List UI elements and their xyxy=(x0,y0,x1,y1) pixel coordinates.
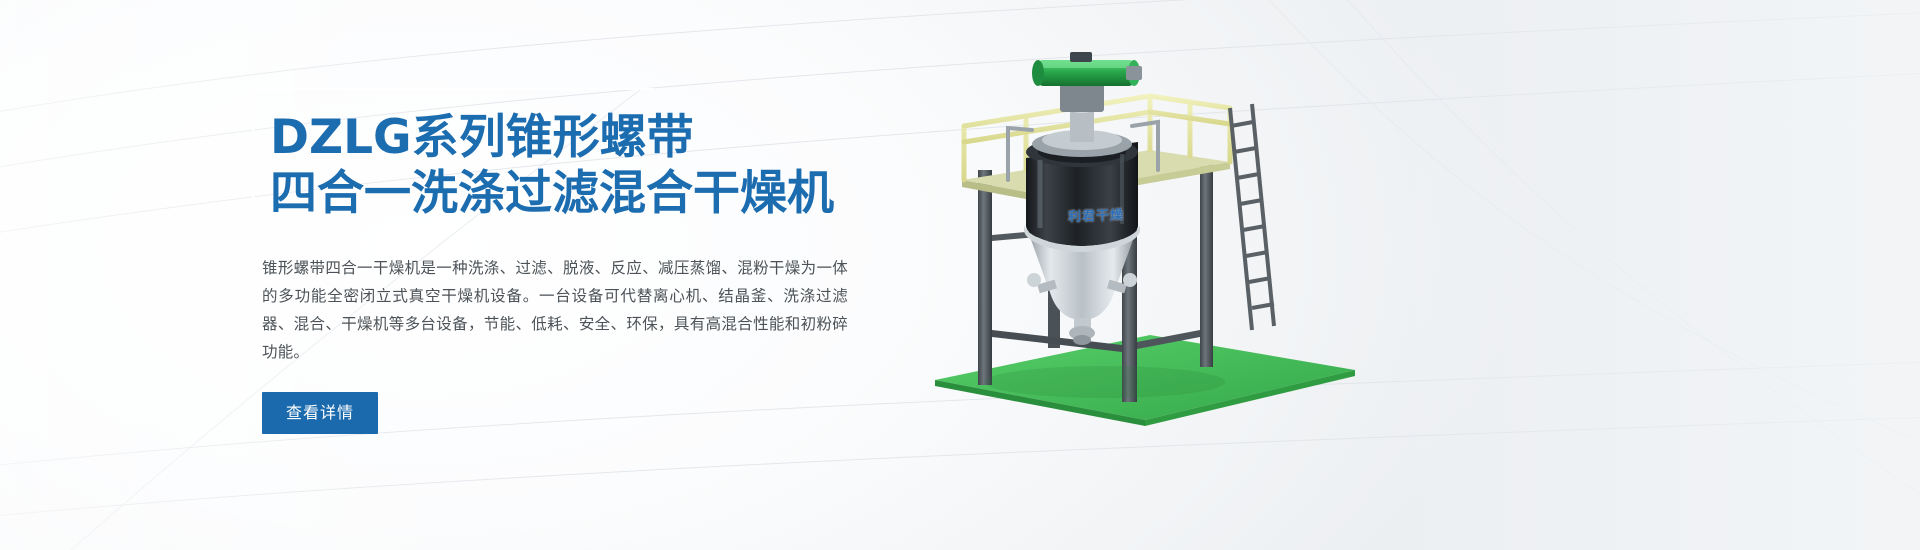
view-details-button[interactable]: 查看详情 xyxy=(262,392,378,434)
title-line-1: DZLG系列锥形螺带 xyxy=(270,110,892,166)
drive-motor xyxy=(1032,52,1142,112)
access-ladder xyxy=(1230,104,1274,330)
title-block: DZLG系列锥形螺带 四合一洗涤过滤混合干燥机 xyxy=(252,88,892,228)
title-line-2: 四合一洗涤过滤混合干燥机 xyxy=(270,166,892,222)
product-illustration: 利君干燥 xyxy=(900,30,1420,430)
cta-row: 查看详情 xyxy=(262,392,892,434)
hero-banner: DZLG系列锥形螺带 四合一洗涤过滤混合干燥机 锥形螺带四合一干燥机是一种洗涤、… xyxy=(0,0,1920,550)
page-title: DZLG系列锥形螺带 四合一洗涤过滤混合干燥机 xyxy=(270,110,892,222)
banner-description: 锥形螺带四合一干燥机是一种洗涤、过滤、脱液、反应、减压蒸馏、混粉干燥为一体的多功… xyxy=(262,254,848,366)
machine-brand-label: 利君干燥 xyxy=(1068,204,1124,225)
ground-shadow xyxy=(985,366,1225,398)
banner-content: DZLG系列锥形螺带 四合一洗涤过滤混合干燥机 锥形螺带四合一干燥机是一种洗涤、… xyxy=(252,88,892,434)
